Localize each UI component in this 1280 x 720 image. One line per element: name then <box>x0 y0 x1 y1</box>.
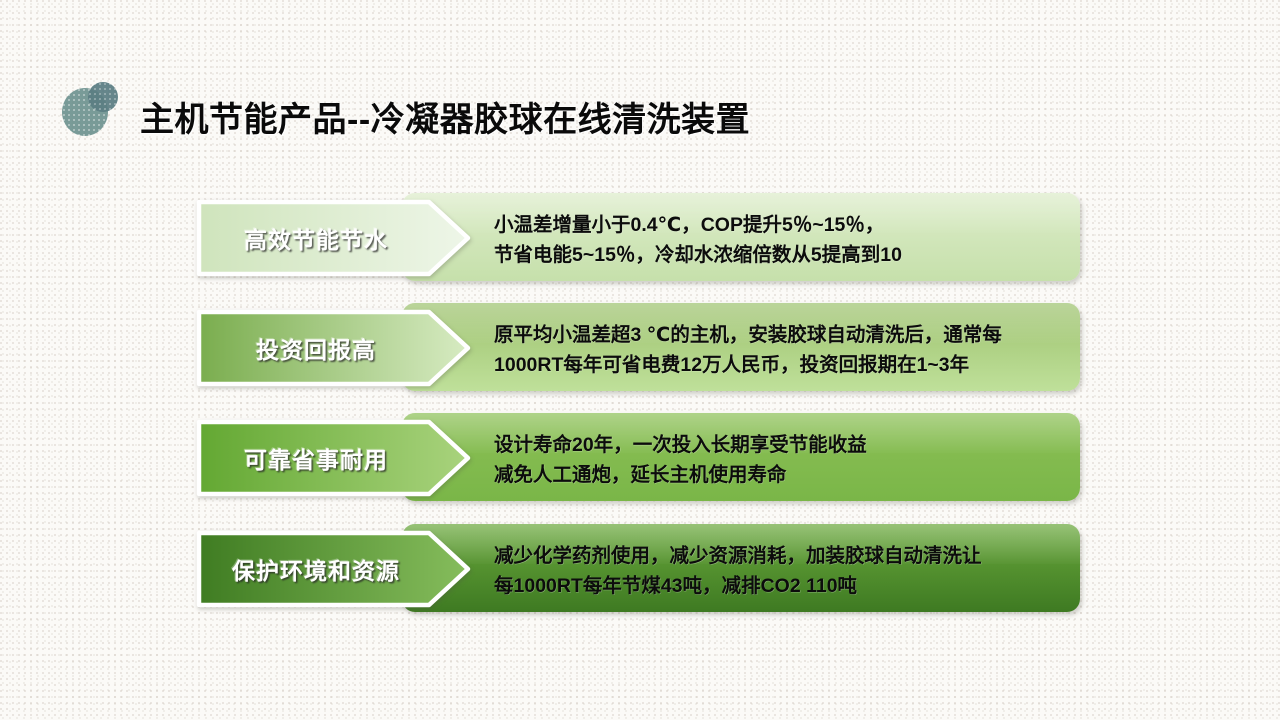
benefit-description-line: 减少化学药剂使用，减少资源消耗，加装胶球自动清洗让 <box>494 541 1074 571</box>
benefit-description-line: 1000RT每年可省电费12万人民币，投资回报期在1~3年 <box>494 350 1074 380</box>
benefit-description-text: 小温差增量小于0.4℃，COP提升5％~15％， 节省电能5~15％，冷却水浓缩… <box>494 210 1074 270</box>
benefit-description-text: 原平均小温差超3 ℃的主机，安装胶球自动清洗后，通常每 1000RT每年可省电费… <box>494 320 1074 380</box>
benefit-row: 小温差增量小于0.4℃，COP提升5％~15％， 节省电能5~15％，冷却水浓缩… <box>196 198 1080 278</box>
benefit-row: 设计寿命20年，一次投入长期享受节能收益 减免人工通炮，延长主机使用寿命 可靠省… <box>196 418 1080 498</box>
slide-canvas: 主机节能产品--冷凝器胶球在线清洗装置 小温差增量小于0.4℃，COP提升5％~… <box>0 0 1280 720</box>
benefit-description-text: 设计寿命20年，一次投入长期享受节能收益 减免人工通炮，延长主机使用寿命 <box>494 430 1074 490</box>
benefit-description-text: 减少化学药剂使用，减少资源消耗，加装胶球自动清洗让 每1000RT每年节煤43吨… <box>494 541 1074 601</box>
benefit-label: 高效节能节水 <box>196 198 436 278</box>
benefit-description-line: 小温差增量小于0.4℃，COP提升5％~15％， <box>494 210 1074 240</box>
benefit-row: 原平均小温差超3 ℃的主机，安装胶球自动清洗后，通常每 1000RT每年可省电费… <box>196 308 1080 388</box>
slide-title-area: 主机节能产品--冷凝器胶球在线清洗装置 <box>0 40 1280 112</box>
benefit-label: 保护环境和资源 <box>196 529 436 609</box>
benefit-row: 减少化学药剂使用，减少资源消耗，加装胶球自动清洗让 每1000RT每年节煤43吨… <box>196 529 1080 609</box>
benefit-label: 投资回报高 <box>196 308 436 388</box>
decoration-circle-small-icon <box>88 82 118 112</box>
benefit-label: 可靠省事耐用 <box>196 418 436 498</box>
benefit-description-line: 原平均小温差超3 ℃的主机，安装胶球自动清洗后，通常每 <box>494 320 1074 350</box>
benefit-description-line: 减免人工通炮，延长主机使用寿命 <box>494 460 1074 490</box>
title-decoration-circles <box>62 82 118 138</box>
benefit-description-line: 每1000RT每年节煤43吨，减排CO2 110吨 <box>494 571 1074 601</box>
benefit-description-line: 节省电能5~15％，冷却水浓缩倍数从5提高到10 <box>494 240 1074 270</box>
page-title: 主机节能产品--冷凝器胶球在线清洗装置 <box>140 92 750 141</box>
benefit-description-line: 设计寿命20年，一次投入长期享受节能收益 <box>494 430 1074 460</box>
